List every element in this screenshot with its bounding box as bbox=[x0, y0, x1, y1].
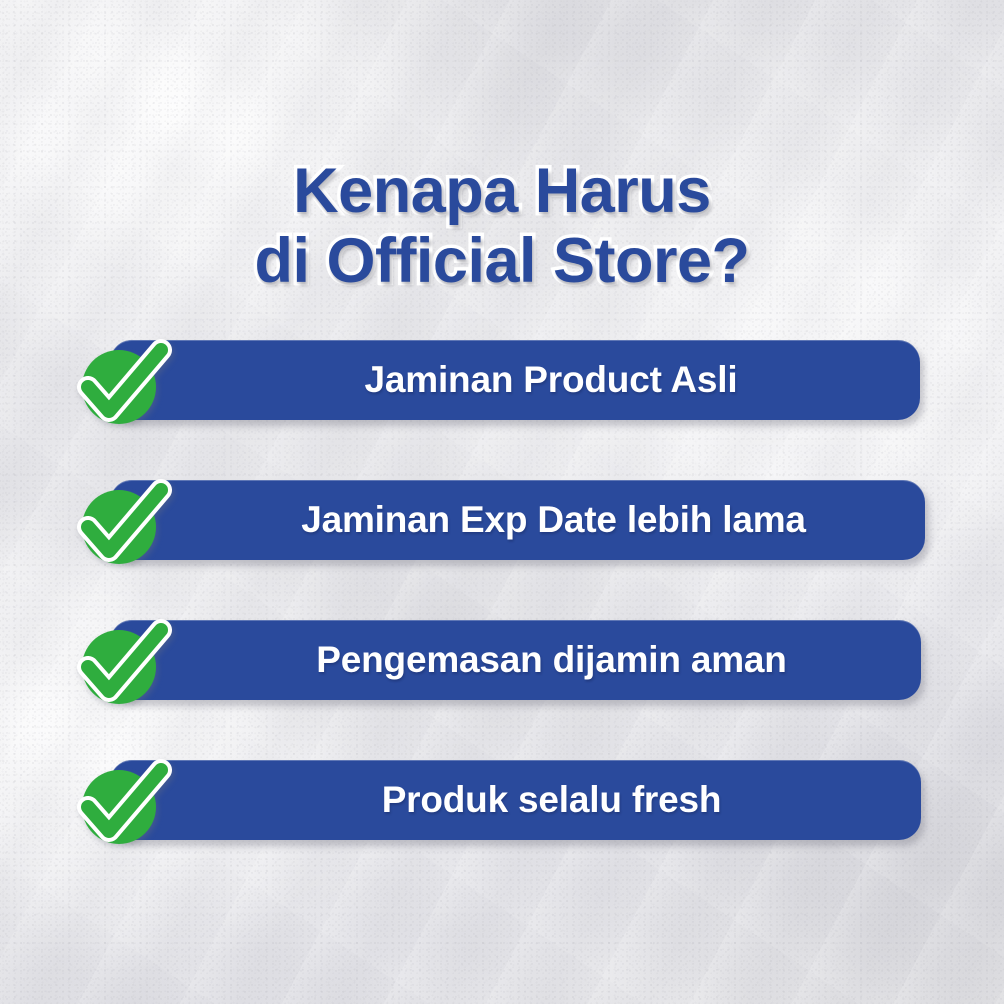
green-check-badge-icon bbox=[76, 762, 168, 850]
green-check-badge-icon bbox=[76, 342, 168, 430]
list-item[interactable]: Jaminan Exp Date lebih lama bbox=[0, 480, 1004, 560]
feature-label: Produk selalu fresh bbox=[196, 760, 907, 840]
list-item[interactable]: Pengemasan dijamin aman bbox=[0, 620, 1004, 700]
feature-label: Pengemasan dijamin aman bbox=[196, 620, 907, 700]
feature-bar[interactable]: Produk selalu fresh bbox=[110, 760, 921, 840]
feature-list: Jaminan Product Asli Jaminan Exp Date le… bbox=[0, 340, 1004, 840]
feature-label: Jaminan Product Asli bbox=[196, 340, 906, 420]
list-item[interactable]: Produk selalu fresh bbox=[0, 760, 1004, 840]
feature-bar[interactable]: Jaminan Product Asli bbox=[110, 340, 920, 420]
list-item[interactable]: Jaminan Product Asli bbox=[0, 340, 1004, 420]
feature-label: Jaminan Exp Date lebih lama bbox=[196, 480, 911, 560]
green-check-badge-icon bbox=[76, 482, 168, 570]
green-check-badge-icon bbox=[76, 622, 168, 710]
page-title: Kenapa Harus di Official Store? bbox=[0, 156, 1004, 296]
promo-poster: Kenapa Harus di Official Store? Jaminan … bbox=[0, 0, 1004, 1004]
feature-bar[interactable]: Jaminan Exp Date lebih lama bbox=[110, 480, 925, 560]
feature-bar[interactable]: Pengemasan dijamin aman bbox=[110, 620, 921, 700]
